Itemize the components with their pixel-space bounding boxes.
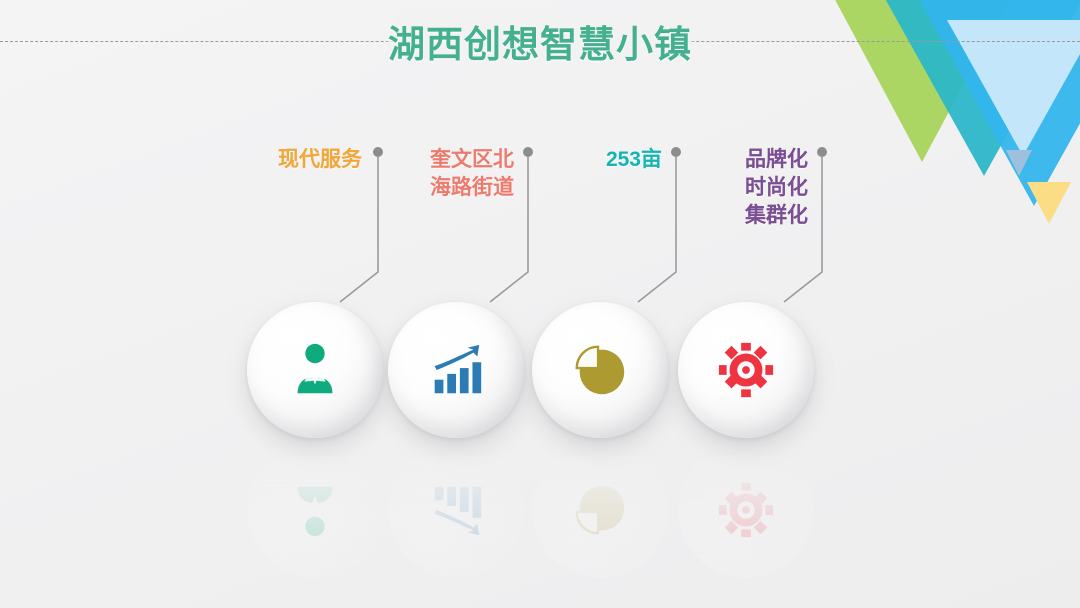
callout-label-1: 现代服务	[182, 146, 362, 174]
page-title: 湖西创想智慧小镇	[0, 14, 1080, 68]
callout-label-3: 253亩	[532, 146, 662, 174]
slide-canvas: 湖西创想智慧小镇 现代服务 奎文区北 海路街道 253亩 品牌化 时尚化 集群化	[0, 0, 1080, 608]
connector-lines	[0, 0, 1080, 608]
callout-label-4: 品牌化 时尚化 集群化	[698, 146, 808, 230]
callout-label-2: 奎文区北 海路街道	[384, 146, 514, 202]
